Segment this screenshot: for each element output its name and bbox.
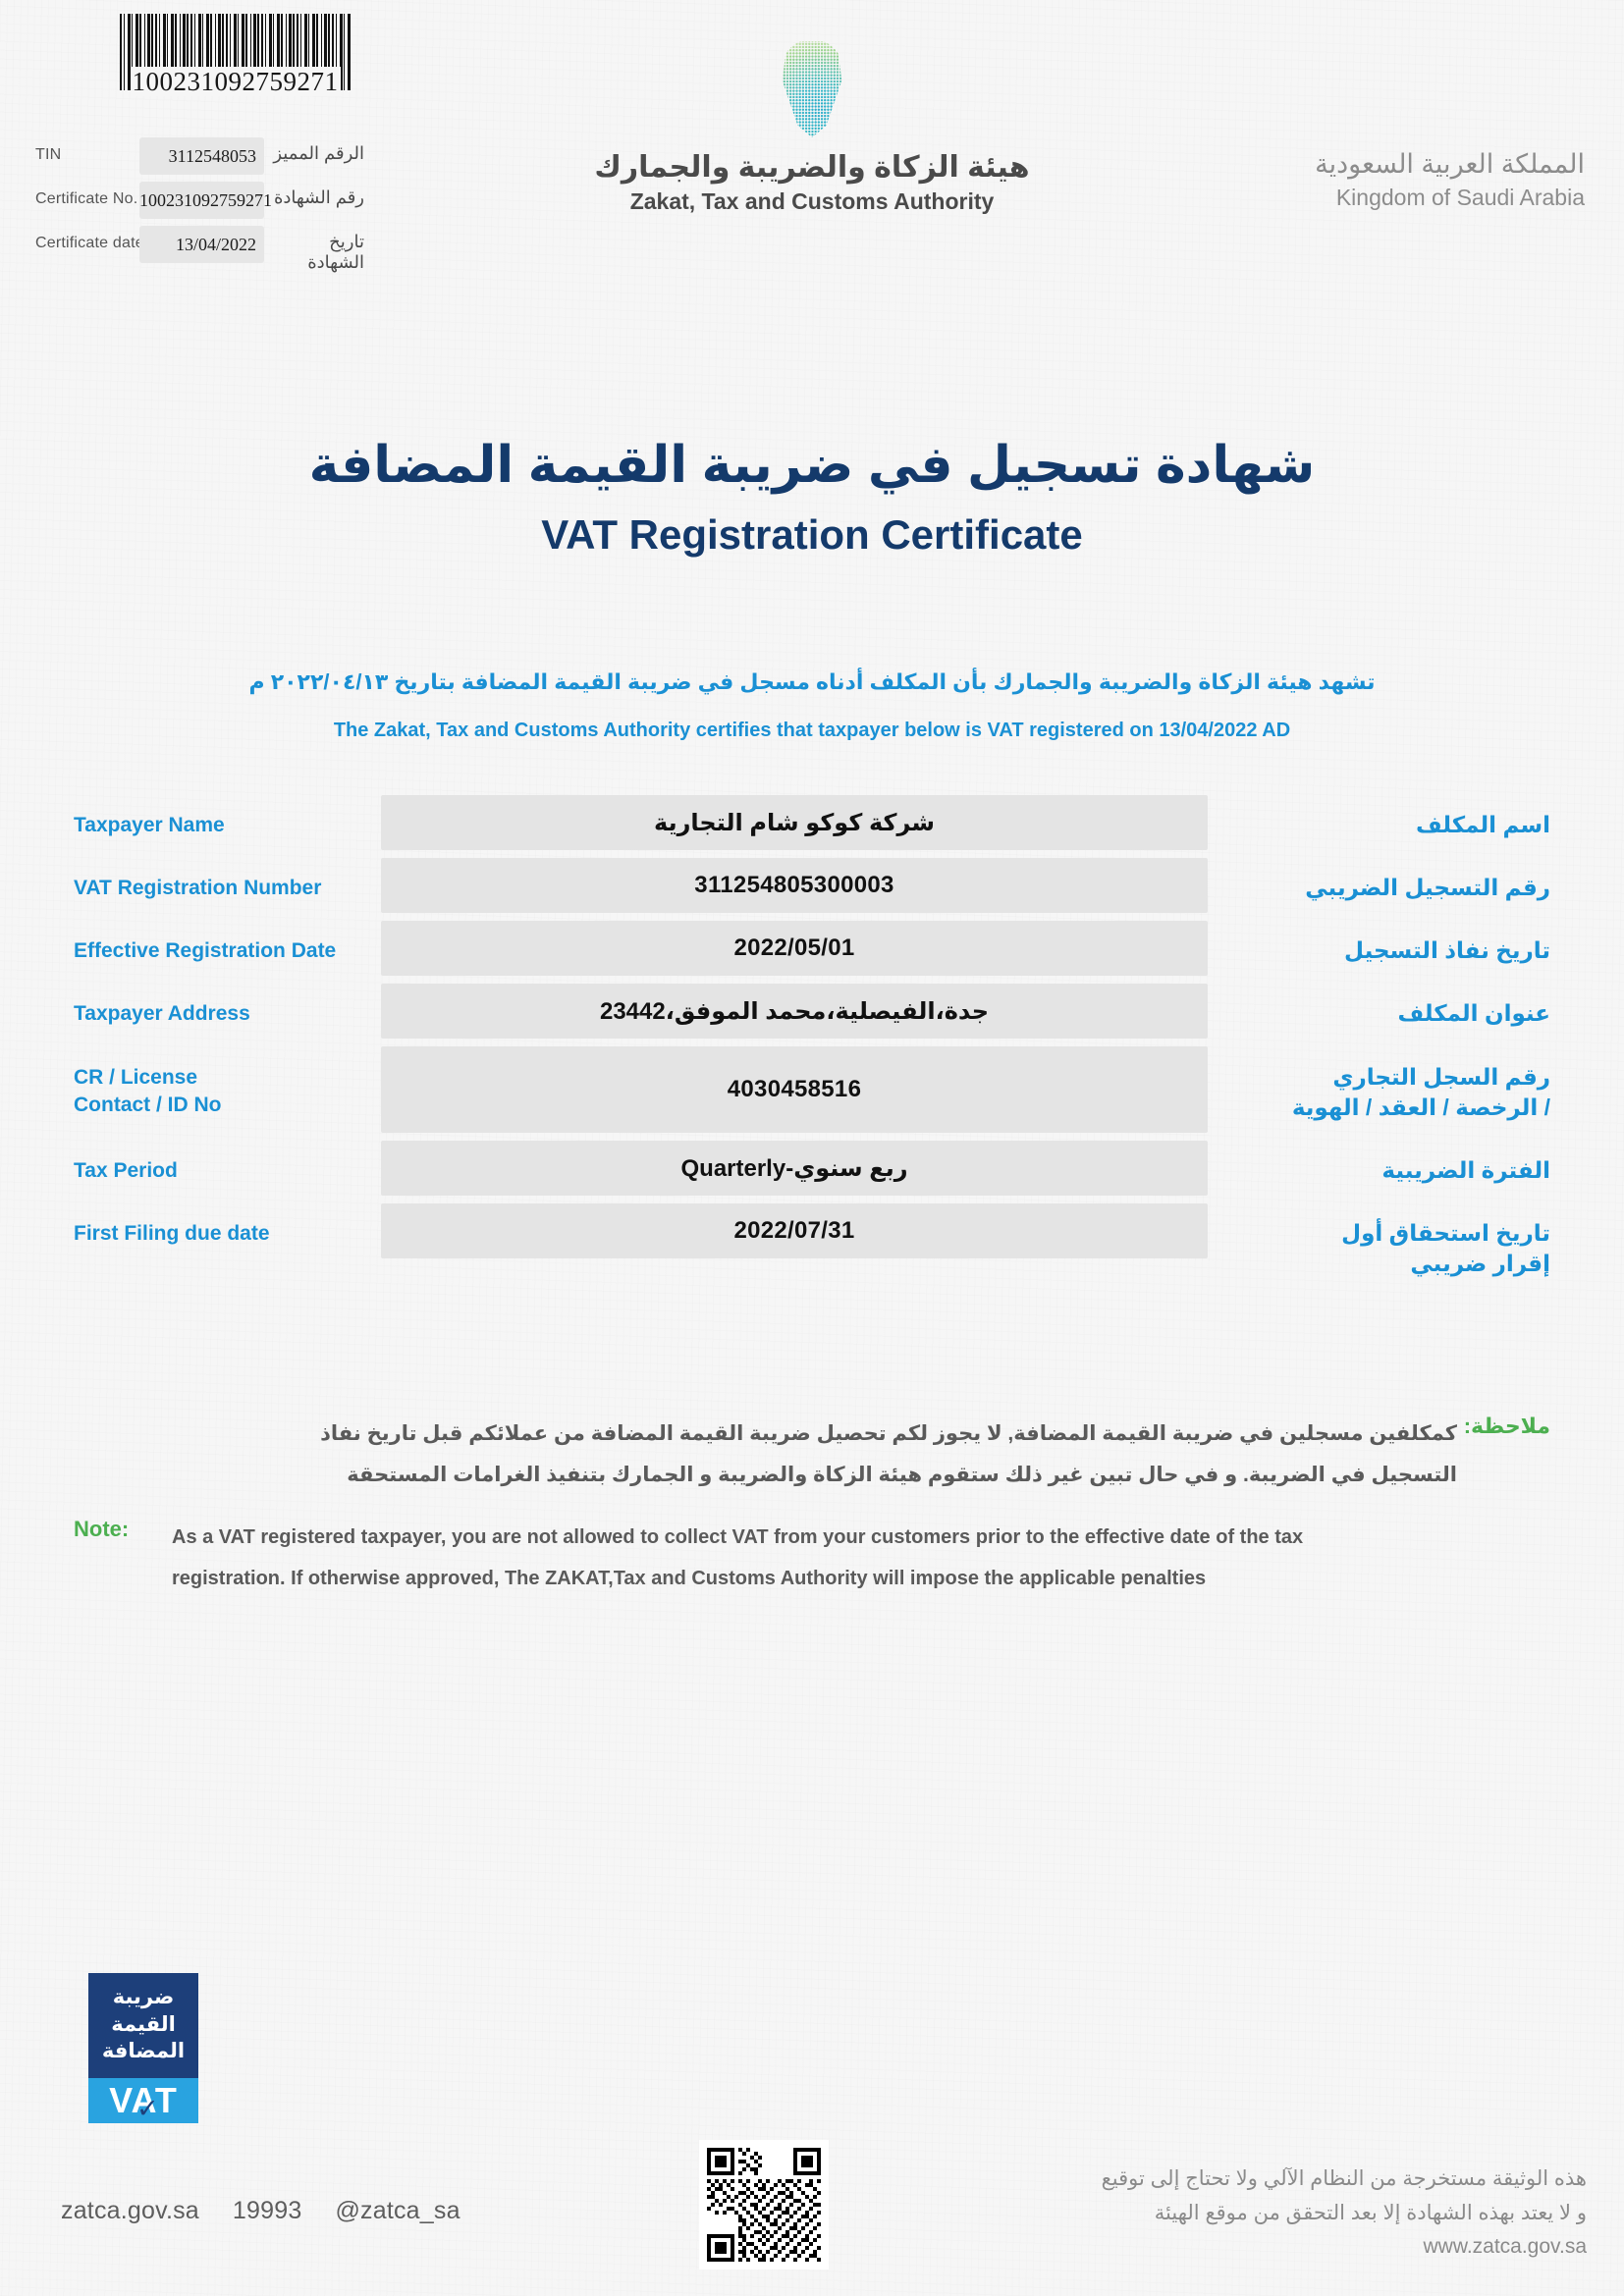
vat-logo-ar-line2: القيمة (95, 2011, 191, 2039)
vat-logo-ar-line3: المضافة (95, 2038, 191, 2065)
row-label-ar: الفترة الضريبية (1256, 1155, 1550, 1186)
row-value: ربع سنوي-Quarterly (381, 1141, 1208, 1196)
row-label-en: Taxpayer Address (74, 1000, 368, 1028)
footer-phone: 19993 (233, 2197, 302, 2224)
row-value: 4030458516 (381, 1046, 1208, 1133)
page-title: شهادة تسجيل في ضريبة القيمة المضافة VAT … (0, 437, 1624, 559)
certificate-header: 100231092759271 TIN 3112548053 الرقم الم… (0, 0, 1624, 294)
vat-logo: ضريبة القيمة المضافة VAT ✓ (88, 1973, 198, 2123)
checkmark-icon: ✓ (136, 2096, 156, 2119)
table-row: First Filing due date 2022/07/31 تاريخ ا… (0, 1203, 1624, 1258)
row-value: 311254805300003 (381, 858, 1208, 913)
zatca-shield-logo-shape (780, 39, 844, 137)
note-label-ar: ملاحظة: (1464, 1414, 1550, 1439)
footer-website[interactable]: zatca.gov.sa (61, 2197, 199, 2224)
table-row: Taxpayer Name شركة كوكو شام التجارية اسم… (0, 795, 1624, 850)
id-row-label-ar: تاريخ الشهادة (271, 232, 364, 273)
certification-statement-en: The Zakat, Tax and Customs Authority cer… (0, 720, 1624, 742)
row-value: 2022/05/01 (381, 921, 1208, 976)
note-body-ar: كمكلفين مسجلين في ضريبة القيمة المضافة, … (289, 1414, 1457, 1496)
row-label-ar: تاريخ استحقاق أول إقرار ضريبي (1325, 1218, 1550, 1279)
kingdom-name-ar: المملكة العربية السعودية (1315, 147, 1585, 182)
page-title-ar: شهادة تسجيل في ضريبة القيمة المضافة (0, 437, 1624, 496)
vat-logo-latin-block: VAT ✓ (88, 2078, 198, 2123)
note-body-en: As a VAT registered taxpayer, you are no… (172, 1517, 1380, 1599)
row-value: شركة كوكو شام التجارية (381, 795, 1208, 850)
footer-contact-row: zatca.gov.sa19993@zatca_sa (61, 2197, 460, 2225)
vat-logo-arabic-block: ضريبة القيمة المضافة (88, 1973, 198, 2078)
table-row: Effective Registration Date 2022/05/01 ت… (0, 921, 1624, 976)
id-row-value: 13/04/2022 (139, 226, 264, 263)
row-label-en: Effective Registration Date (74, 937, 368, 965)
page-title-en: VAT Registration Certificate (0, 511, 1624, 559)
row-label-ar: رقم السجل التجاري / الرخصة / العقد / اله… (1256, 1062, 1550, 1123)
details-table: Taxpayer Name شركة كوكو شام التجارية اسم… (0, 795, 1624, 1266)
row-label-ar: تاريخ نفاذ التسجيل (1256, 935, 1550, 966)
row-value: جدة،الفيصلية،محمد الموفق،23442 (381, 984, 1208, 1039)
row-label-en: First Filing due date (74, 1220, 368, 1248)
row-label-en: Tax Period (74, 1157, 368, 1185)
certification-statement: تشهد هيئة الزكاة والضريبة والجمارك بأن ا… (0, 667, 1624, 742)
kingdom-block: المملكة العربية السعودية Kingdom of Saud… (1315, 147, 1585, 211)
row-label-ar: اسم المكلف (1256, 810, 1550, 840)
footer-disclaimer-line2: و لا يعتد بهذه الشهادة إلا بعد التحقق من… (958, 2197, 1587, 2231)
footer-disclaimer: هذه الوثيقة مستخرجة من النظام الآلي ولا … (958, 2163, 1587, 2265)
note-label-en: Note: (74, 1517, 129, 1542)
certificate-page: 100231092759271 TIN 3112548053 الرقم الم… (0, 0, 1624, 2296)
row-label-en: Taxpayer Name (74, 812, 368, 839)
row-label-ar: عنوان المكلف (1256, 998, 1550, 1029)
zatca-shield-logo-icon (780, 39, 844, 137)
vat-logo-ar-line1: ضريبة (95, 1984, 191, 2011)
row-label-ar: رقم التسجيل الضريبي (1256, 873, 1550, 903)
row-label-en: CR / License Contact / ID No (74, 1064, 368, 1120)
qr-code-svg (707, 2148, 821, 2262)
kingdom-name-en: Kingdom of Saudi Arabia (1315, 185, 1585, 211)
table-row: CR / License Contact / ID No 4030458516 … (0, 1046, 1624, 1133)
id-row-label-en: Certificate date (35, 235, 144, 252)
certification-statement-ar: تشهد هيئة الزكاة والضريبة والجمارك بأن ا… (0, 667, 1624, 698)
row-value: 2022/07/31 (381, 1203, 1208, 1258)
table-row: Taxpayer Address جدة،الفيصلية،محمد الموف… (0, 984, 1624, 1039)
table-row: VAT Registration Number 311254805300003 … (0, 858, 1624, 913)
id-row-certificate-date: Certificate date 13/04/2022 تاريخ الشهاد… (14, 226, 367, 263)
qr-code-icon (699, 2140, 829, 2269)
row-label-en: VAT Registration Number (74, 875, 368, 902)
table-row: Tax Period ربع سنوي-Quarterly الفترة الض… (0, 1141, 1624, 1196)
footer-disclaimer-line1: هذه الوثيقة مستخرجة من النظام الآلي ولا … (958, 2163, 1587, 2197)
footer-social-handle[interactable]: @zatca_sa (335, 2197, 460, 2224)
footer-disclaimer-url[interactable]: www.zatca.gov.sa (958, 2230, 1587, 2265)
